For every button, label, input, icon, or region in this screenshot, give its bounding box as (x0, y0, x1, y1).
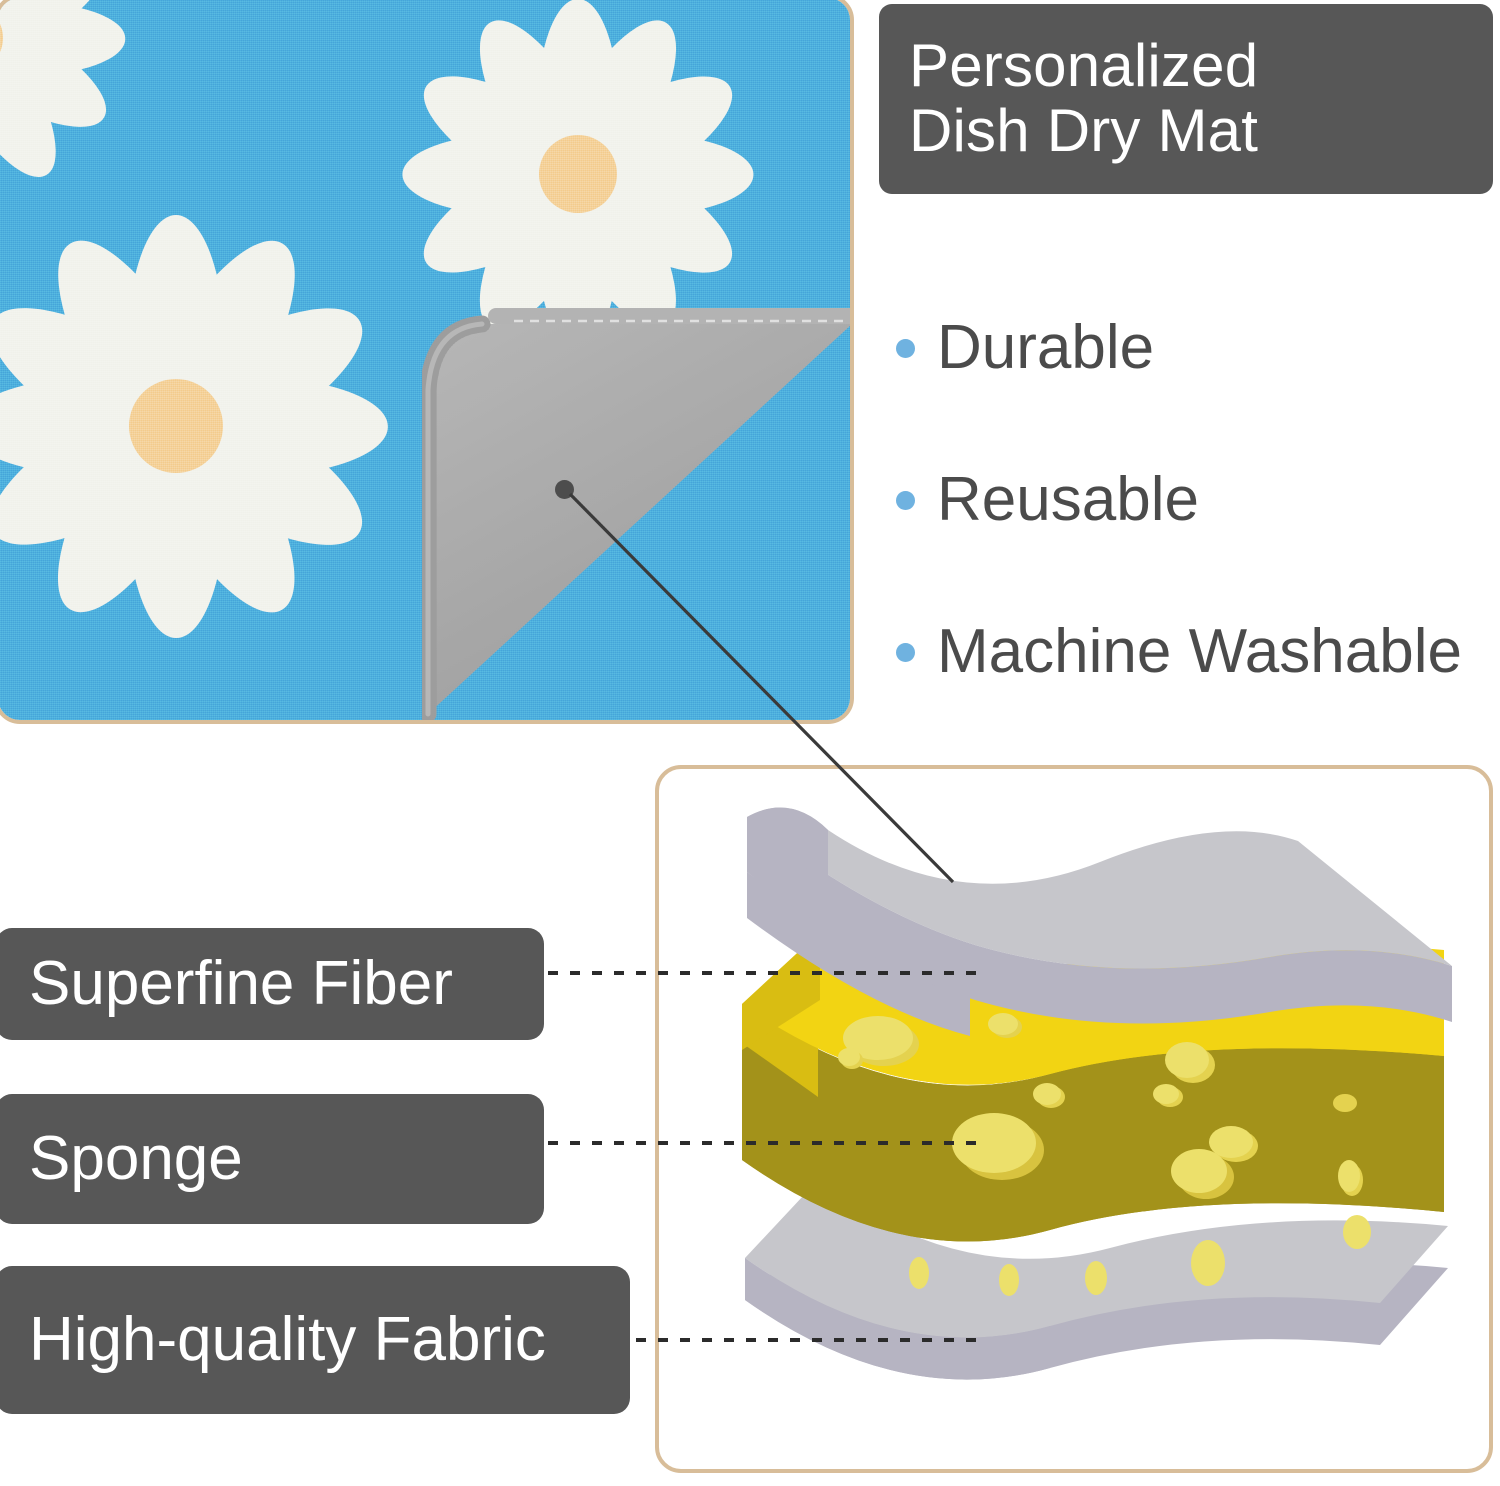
layer-badge-label: Superfine Fiber (29, 953, 453, 1015)
infographic-stage: Personalized Dish Dry Mat Durable Reusab… (0, 0, 1500, 1486)
bullet-dot-icon (896, 339, 915, 358)
feature-label: Machine Washable (937, 621, 1462, 683)
layer-badge-label: High-quality Fabric (29, 1309, 546, 1371)
folded-corner-microfiber-backing (422, 294, 854, 724)
layer-badge-high-quality-fabric: High-quality Fabric (0, 1266, 630, 1414)
layer-badge-sponge: Sponge (0, 1094, 544, 1224)
layer-diagram-panel (655, 765, 1493, 1473)
product-title-line-2: Dish Dry Mat (909, 99, 1463, 164)
feature-label: Reusable (937, 469, 1199, 531)
bullet-dot-icon (896, 491, 915, 510)
feature-item-machine-washable: Machine Washable (896, 576, 1496, 728)
layer-badge-label: Sponge (29, 1128, 243, 1190)
bullet-dot-icon (896, 643, 915, 662)
folded-corner-shape (422, 294, 854, 724)
callout-anchor-dot (555, 480, 574, 499)
feature-list: Durable Reusable Machine Washable (896, 272, 1496, 728)
feature-item-reusable: Reusable (896, 424, 1496, 576)
product-title-line-1: Personalized (909, 34, 1463, 99)
layer-badge-superfine-fiber: Superfine Fiber (0, 928, 544, 1040)
product-photo-panel (0, 0, 854, 724)
feature-item-durable: Durable (896, 272, 1496, 424)
product-title-badge: Personalized Dish Dry Mat (879, 4, 1493, 194)
feature-label: Durable (937, 317, 1154, 379)
